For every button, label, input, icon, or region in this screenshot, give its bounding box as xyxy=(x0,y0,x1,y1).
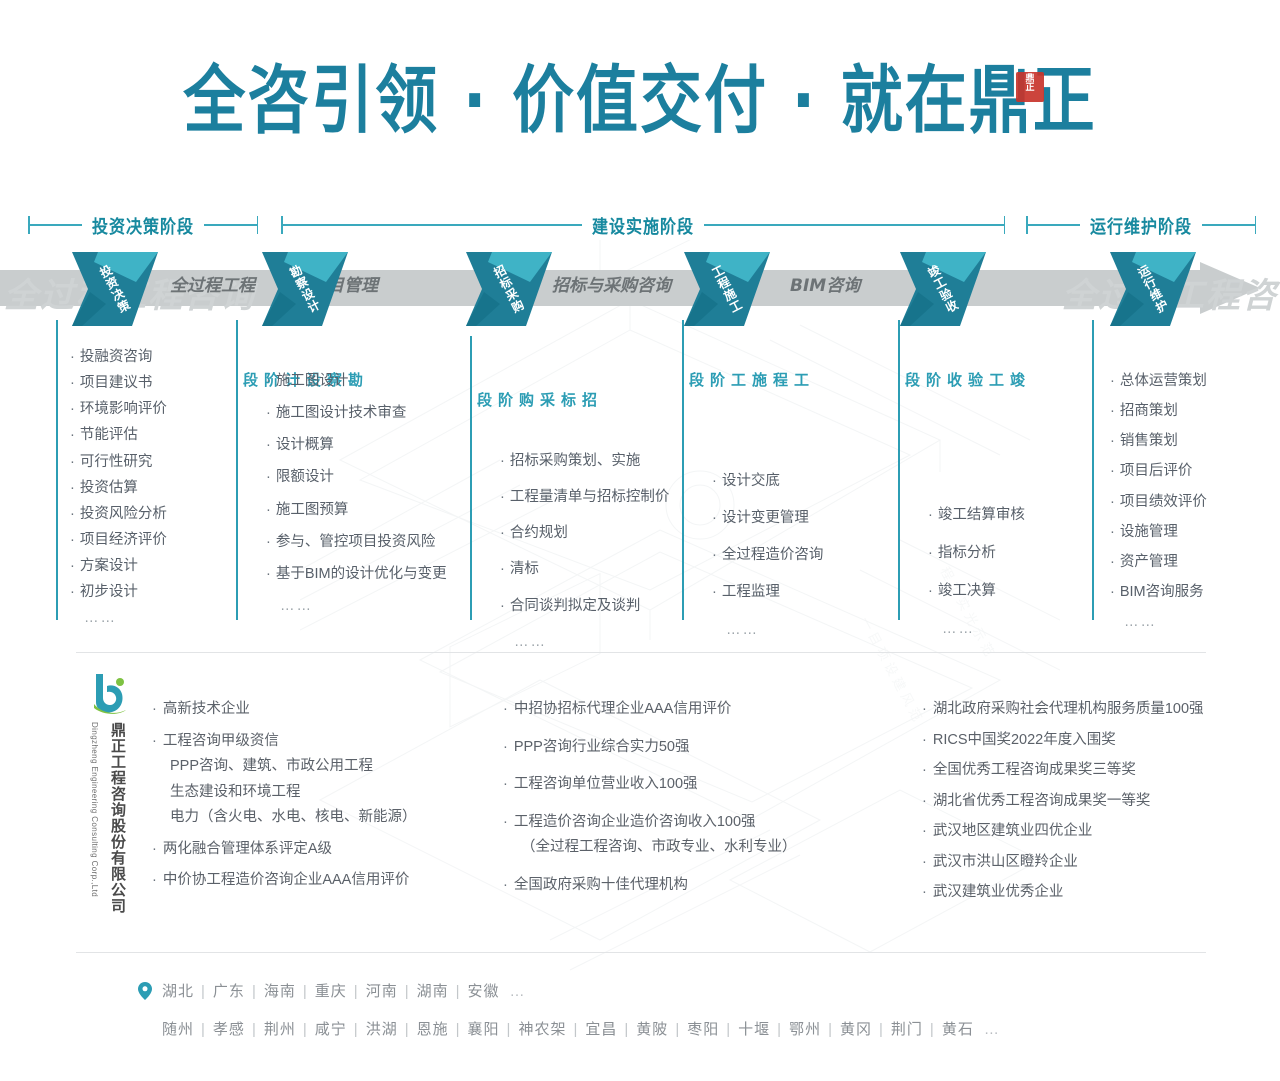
bullet-dot: · xyxy=(70,584,75,600)
list-item: ·工程咨询单位营业收入100强 xyxy=(503,775,913,795)
location-separator: | xyxy=(303,983,308,1000)
list-item-text: 两化融合管理体系评定A级 xyxy=(163,841,332,857)
phase-line-left xyxy=(1028,224,1081,226)
locations-cities-row: 随州|孝感|荆州|咸宁|洪湖|恩施|襄阳|神农架|宜昌|黄陂|枣阳|十堰|鄂州|… xyxy=(162,1018,1000,1039)
bullet-dot: · xyxy=(1110,463,1115,479)
bullet-dot: · xyxy=(266,534,271,550)
list-item-text: 初步设计 xyxy=(80,584,138,600)
seal-bottom-char: 正 xyxy=(1018,84,1042,93)
list-item: ·武汉建筑业优秀企业 xyxy=(922,883,1252,903)
stage-vertical-title: 招标采购阶段 xyxy=(474,392,600,410)
list-item: ·设计变更管理 xyxy=(712,509,823,527)
bullet-dot: · xyxy=(70,454,75,470)
bullet-dot: · xyxy=(152,872,157,888)
list-item: ·项目经济评价 xyxy=(70,531,167,549)
bullet-dot: · xyxy=(266,566,271,582)
list-item-text: 全国优秀工程咨询成果奖三等奖 xyxy=(933,762,1136,778)
list-item: ·合约规划 xyxy=(500,524,669,542)
list-item: ·设施管理 xyxy=(1110,523,1207,541)
location-name: 咸宁 xyxy=(315,1021,347,1038)
list-item: ·投资估算 xyxy=(70,479,167,497)
list-item: ·总体运营策划 xyxy=(1110,372,1207,390)
list-item-text: 招标采购策划、实施 xyxy=(510,453,641,469)
bullet-dot: · xyxy=(70,427,75,443)
list-item-text: 工程量清单与招标控制价 xyxy=(510,489,670,505)
list-item-text: 可行性研究 xyxy=(80,454,153,470)
location-more: … xyxy=(510,983,526,1000)
phase-header-label: 建设实施阶段 xyxy=(582,212,704,239)
bullet-dot: · xyxy=(928,545,933,561)
list-item: ·初步设计 xyxy=(70,583,167,601)
stage-item-list: ·招标采购策划、实施 ·工程量清单与招标控制价 ·合约规划 ·清标 ·合同谈判拟… xyxy=(500,452,669,659)
list-ellipsis: …… xyxy=(1110,613,1207,631)
bullet-dot: · xyxy=(266,469,271,485)
list-item: ·工程咨询甲级资信 PPP咨询、建筑、市政公用工程 生态建设和环境工程 电力（含… xyxy=(152,732,482,828)
phase-header-investment-decision: 投资决策阶段 xyxy=(28,212,258,238)
list-item-text: PPP咨询行业综合实力50强 xyxy=(514,739,690,755)
location-name: 襄阳 xyxy=(468,1021,500,1038)
location-separator: | xyxy=(456,983,461,1000)
phase-line-left xyxy=(30,224,83,226)
location-separator: | xyxy=(303,1021,308,1038)
list-item-text: 高新技术企业 xyxy=(163,701,250,717)
location-separator: | xyxy=(456,1021,461,1038)
bullet-dot: · xyxy=(503,701,508,717)
bullet-dot: · xyxy=(922,854,927,870)
list-item-text: 销售策划 xyxy=(1120,433,1178,449)
phase-bracket-right xyxy=(1004,216,1006,234)
list-item-text: 湖北省优秀工程咨询成果奖一等奖 xyxy=(933,793,1151,809)
bullet-dot: · xyxy=(712,473,717,489)
list-item: ·PPP咨询行业综合实力50强 xyxy=(503,738,913,758)
list-item-text: 设计交底 xyxy=(722,473,780,489)
location-more: … xyxy=(984,1021,1000,1038)
location-name: 恩施 xyxy=(417,1021,449,1038)
list-item-text: 投资风险分析 xyxy=(80,506,167,522)
page-title: 全咨引领 · 价值交付 · 就在鼎正 xyxy=(0,62,1280,127)
bullet-dot: · xyxy=(503,814,508,830)
stage-item-list: ·施工图设计 ·施工图设计技术审查 ·设计概算 ·限额设计 ·施工图预算 ·参与… xyxy=(266,372,447,623)
phase-line-right xyxy=(204,224,257,226)
list-item: ·设计交底 xyxy=(712,472,823,490)
list-item-text: 武汉地区建筑业四优企业 xyxy=(933,823,1093,839)
list-item-text: 工程咨询甲级资信 xyxy=(163,733,279,749)
location-separator: | xyxy=(252,1021,257,1038)
list-item: ·工程监理 xyxy=(712,583,823,601)
ribbon-operation-maintenance: 运行维护 xyxy=(1110,252,1196,326)
location-name: 湖南 xyxy=(417,983,449,1000)
ribbon-construction: 工程施工 xyxy=(684,252,770,326)
location-name: 洪湖 xyxy=(366,1021,398,1038)
list-item-text: 投资估算 xyxy=(80,480,138,496)
arrow-segment-whole-process: 全过程工程 xyxy=(170,271,255,296)
list-item: ·BIM咨询服务 xyxy=(1110,583,1207,601)
location-separator: | xyxy=(726,1021,731,1038)
list-item: ·湖北政府采购社会代理机构服务质量100强 xyxy=(922,700,1252,720)
bullet-dot: · xyxy=(712,547,717,563)
list-item-text: 施工图设计 xyxy=(276,373,349,389)
location-separator: | xyxy=(879,1021,884,1038)
location-name: 重庆 xyxy=(315,983,347,1000)
bullet-dot: · xyxy=(1110,584,1115,600)
credentials-column-1: ·高新技术企业 ·工程咨询甲级资信 PPP咨询、建筑、市政公用工程 生态建设和环… xyxy=(152,700,482,903)
list-item-text: 湖北政府采购社会代理机构服务质量100强 xyxy=(933,701,1204,717)
bullet-dot: · xyxy=(922,762,927,778)
list-item: ·项目后评价 xyxy=(1110,462,1207,480)
location-name: 宜昌 xyxy=(585,1021,617,1038)
locations-provinces-row: 湖北|广东|海南|重庆|河南|湖南|安徽… xyxy=(162,980,526,1001)
bullet-dot: · xyxy=(1110,373,1115,389)
company-logo-block: 鼎正工程咨询股份有限公司 Dingzheng Engineering Consu… xyxy=(82,672,146,922)
list-item-text: 工程监理 xyxy=(722,584,780,600)
location-name: 湖北 xyxy=(162,983,194,1000)
stage-vertical-title: 工程施工阶段 xyxy=(686,372,812,390)
list-item: ·销售策划 xyxy=(1110,432,1207,450)
list-item: ·资产管理 xyxy=(1110,553,1207,571)
bullet-dot: · xyxy=(922,793,927,809)
list-item-text: 方案设计 xyxy=(80,558,138,574)
location-name: 海南 xyxy=(264,983,296,1000)
list-item: ·招商策划 xyxy=(1110,402,1207,420)
list-item-text: 设施管理 xyxy=(1120,524,1178,540)
location-name: 荆州 xyxy=(264,1021,296,1038)
list-item: ·指标分析 xyxy=(928,544,1025,562)
bullet-dot: · xyxy=(712,510,717,526)
list-item-text: 全过程造价咨询 xyxy=(722,547,824,563)
bullet-dot: · xyxy=(500,525,505,541)
list-ellipsis: …… xyxy=(70,609,167,627)
stage-item-list: ·设计交底 ·设计变更管理 ·全过程造价咨询 ·工程监理 …… xyxy=(712,472,823,647)
stage-item-list: ·投融资咨询 ·项目建议书 ·环境影响评价 ·节能评估 ·可行性研究 ·投资估算… xyxy=(70,348,167,635)
location-separator: | xyxy=(777,1021,782,1038)
list-item-text: 项目经济评价 xyxy=(80,532,167,548)
credentials-column-2: ·中招协招标代理企业AAA信用评价 ·PPP咨询行业综合实力50强 ·工程咨询单… xyxy=(503,700,913,907)
list-item-subtext: PPP咨询、建筑、市政公用工程 xyxy=(152,757,482,777)
location-name: 神农架 xyxy=(518,1021,566,1038)
bullet-dot: · xyxy=(1110,524,1115,540)
list-item: ·施工图设计 xyxy=(266,372,447,390)
list-item-text: 参与、管控项目投资风险 xyxy=(276,534,436,550)
list-item: ·参与、管控项目投资风险 xyxy=(266,533,447,551)
arrow-segment-bim: BIM咨询 xyxy=(790,271,860,296)
location-name: 十堰 xyxy=(738,1021,770,1038)
location-separator: | xyxy=(252,983,257,1000)
list-item: ·投融资咨询 xyxy=(70,348,167,366)
ribbon-bidding-procurement: 招标采购 xyxy=(466,252,552,326)
list-item: ·环境影响评价 xyxy=(70,400,167,418)
phase-line-right xyxy=(1202,224,1255,226)
list-item: ·节能评估 xyxy=(70,426,167,444)
bullet-dot: · xyxy=(266,373,271,389)
list-item: ·高新技术企业 xyxy=(152,700,482,720)
bullet-dot: · xyxy=(70,558,75,574)
list-item-text: 投融资咨询 xyxy=(80,349,153,365)
list-item-text: 全国政府采购十佳代理机构 xyxy=(514,877,688,893)
list-item-text: 武汉建筑业优秀企业 xyxy=(933,884,1064,900)
phase-line-left xyxy=(283,224,583,226)
bullet-dot: · xyxy=(503,776,508,792)
list-item: ·项目绩效评价 xyxy=(1110,493,1207,511)
company-seal-stamp: 鼎 正 xyxy=(1016,72,1044,102)
bullet-dot: · xyxy=(152,841,157,857)
location-separator: | xyxy=(624,1021,629,1038)
location-separator: | xyxy=(354,1021,359,1038)
bullet-dot: · xyxy=(928,583,933,599)
list-item: ·设计概算 xyxy=(266,436,447,454)
stage-vertical-rule xyxy=(682,320,684,620)
location-name: 黄冈 xyxy=(840,1021,872,1038)
location-pin-icon xyxy=(138,982,152,1000)
list-item-subtext: 生态建设和环境工程 xyxy=(152,783,482,803)
list-item: ·限额设计 xyxy=(266,468,447,486)
arrow-segment-bidding-procurement: 招标与采购咨询 xyxy=(552,271,671,296)
bullet-dot: · xyxy=(928,507,933,523)
stage-vertical-rule xyxy=(898,320,900,620)
bullet-dot: · xyxy=(1110,494,1115,510)
list-item-text: 项目后评价 xyxy=(1120,463,1193,479)
location-name: 河南 xyxy=(366,983,398,1000)
phase-bracket-right xyxy=(257,216,259,234)
list-item: ·两化融合管理体系评定A级 xyxy=(152,840,482,860)
bullet-dot: · xyxy=(70,506,75,522)
list-item-text: RICS中国奖2022年度入围奖 xyxy=(933,732,1116,748)
bullet-dot: · xyxy=(70,480,75,496)
list-item: ·工程量清单与招标控制价 xyxy=(500,488,669,506)
bullet-dot: · xyxy=(1110,433,1115,449)
bullet-dot: · xyxy=(503,877,508,893)
location-name: 黄陂 xyxy=(636,1021,668,1038)
list-item-text: 基于BIM的设计优化与变更 xyxy=(276,566,447,582)
location-separator: | xyxy=(930,1021,935,1038)
stage-vertical-rule xyxy=(470,336,472,620)
list-item-text: 环境影响评价 xyxy=(80,401,167,417)
list-item-text: 中价协工程造价咨询企业AAA信用评价 xyxy=(163,872,410,888)
list-item: ·竣工结算审核 xyxy=(928,506,1025,524)
list-item-subtext: （全过程工程咨询、市政专业、水利专业） xyxy=(503,838,913,858)
ribbon-investment-decision: 投资决策 xyxy=(72,252,158,326)
bullet-dot: · xyxy=(70,349,75,365)
list-item-text: 招商策划 xyxy=(1120,403,1178,419)
list-item-text: BIM咨询服务 xyxy=(1120,584,1204,600)
stage-item-list: ·总体运营策划 ·招商策划 ·销售策划 ·项目后评价 ·项目绩效评价 ·设施管理… xyxy=(1110,372,1207,639)
list-ellipsis: …… xyxy=(500,633,669,651)
list-item: ·RICS中国奖2022年度入围奖 xyxy=(922,731,1252,751)
bullet-dot: · xyxy=(922,823,927,839)
list-item-text: 合同谈判拟定及谈判 xyxy=(510,598,641,614)
bullet-dot: · xyxy=(712,584,717,600)
list-item: ·可行性研究 xyxy=(70,453,167,471)
section-divider-bottom xyxy=(76,952,1206,953)
list-item: ·中招协招标代理企业AAA信用评价 xyxy=(503,700,913,720)
bullet-dot: · xyxy=(500,561,505,577)
list-item-text: 设计变更管理 xyxy=(722,510,809,526)
location-separator: | xyxy=(354,983,359,1000)
list-item: ·清标 xyxy=(500,560,669,578)
stage-vertical-rule xyxy=(56,320,58,620)
list-item: ·竣工决算 xyxy=(928,582,1025,600)
list-item-text: 项目建议书 xyxy=(80,375,153,391)
stage-vertical-rule xyxy=(236,320,238,620)
list-item-text: 合约规划 xyxy=(510,525,568,541)
company-name-en: Dingzheng Engineering Consulting Corp.,L… xyxy=(90,722,99,897)
location-separator: | xyxy=(675,1021,680,1038)
list-item: ·中价协工程造价咨询企业AAA信用评价 xyxy=(152,871,482,891)
list-item: ·武汉地区建筑业四优企业 xyxy=(922,822,1252,842)
location-name: 安徽 xyxy=(468,983,500,1000)
list-item-text: 竣工决算 xyxy=(938,583,996,599)
list-ellipsis: …… xyxy=(928,620,1025,638)
bullet-dot: · xyxy=(500,489,505,505)
location-separator: | xyxy=(573,1021,578,1038)
location-name: 广东 xyxy=(213,983,245,1000)
list-item: ·施工图设计技术审查 xyxy=(266,404,447,422)
list-item-text: 中招协招标代理企业AAA信用评价 xyxy=(514,701,732,717)
location-separator: | xyxy=(201,1021,206,1038)
bullet-dot: · xyxy=(70,375,75,391)
list-item-text: 清标 xyxy=(510,561,539,577)
location-separator: | xyxy=(828,1021,833,1038)
bullet-dot: · xyxy=(1110,403,1115,419)
list-ellipsis: …… xyxy=(712,621,823,639)
list-item: ·全国政府采购十佳代理机构 xyxy=(503,876,913,896)
bullet-dot: · xyxy=(70,532,75,548)
list-item: ·湖北省优秀工程咨询成果奖一等奖 xyxy=(922,792,1252,812)
list-item-text: 设计概算 xyxy=(276,437,334,453)
list-item: ·基于BIM的设计优化与变更 xyxy=(266,565,447,583)
location-name: 荆门 xyxy=(891,1021,923,1038)
bullet-dot: · xyxy=(922,732,927,748)
phase-header-construction: 建设实施阶段 xyxy=(281,212,1005,238)
location-name: 黄石 xyxy=(942,1021,974,1038)
list-item-text: 施工图预算 xyxy=(276,502,349,518)
bullet-dot: · xyxy=(922,884,927,900)
list-item: ·项目建议书 xyxy=(70,374,167,392)
list-item: ·施工图预算 xyxy=(266,501,447,519)
company-name-cn: 鼎正工程咨询股份有限公司 xyxy=(108,722,129,914)
list-item-text: 项目绩效评价 xyxy=(1120,494,1207,510)
stage-vertical-title: 竣工验收阶段 xyxy=(902,372,1028,390)
location-name: 枣阳 xyxy=(687,1021,719,1038)
page-title-text: 全咨引领 · 价值交付 · 就在鼎正 xyxy=(183,62,1096,139)
bullet-dot: · xyxy=(152,701,157,717)
ribbon-survey-design: 勘察设计 xyxy=(262,252,348,326)
process-arrow-bar: 全过程工程咨询 全过程工程咨询 全过程工程 项目管理 招标与采购咨询 BIM咨询 xyxy=(0,262,1280,314)
ribbon-completion-acceptance: 竣工验收 xyxy=(900,252,986,326)
list-item: ·全过程造价咨询 xyxy=(712,546,823,564)
credentials-column-3: ·湖北政府采购社会代理机构服务质量100强 ·RICS中国奖2022年度入围奖 … xyxy=(922,700,1252,915)
section-divider-top xyxy=(76,652,1206,653)
list-item: ·全国优秀工程咨询成果奖三等奖 xyxy=(922,761,1252,781)
bullet-dot: · xyxy=(1110,554,1115,570)
location-separator: | xyxy=(405,983,410,1000)
location-name: 鄂州 xyxy=(789,1021,821,1038)
bullet-dot: · xyxy=(922,701,927,717)
bullet-dot: · xyxy=(70,401,75,417)
bullet-dot: · xyxy=(266,437,271,453)
phase-header-label: 投资决策阶段 xyxy=(82,212,204,239)
list-item-text: 武汉市洪山区瞪羚企业 xyxy=(933,854,1078,870)
list-item: ·工程造价咨询企业造价咨询收入100强 （全过程工程咨询、市政专业、水利专业） xyxy=(503,813,913,858)
location-name: 孝感 xyxy=(213,1021,245,1038)
location-separator: | xyxy=(405,1021,410,1038)
phase-header-operation-maintenance: 运行维护阶段 xyxy=(1026,212,1256,238)
phase-line-right xyxy=(704,224,1004,226)
list-item: ·合同谈判拟定及谈判 xyxy=(500,597,669,615)
list-item-text: 指标分析 xyxy=(938,545,996,561)
list-item: ·方案设计 xyxy=(70,557,167,575)
list-item-text: 工程咨询单位营业收入100强 xyxy=(514,776,698,792)
bullet-dot: · xyxy=(500,453,505,469)
company-logo-icon xyxy=(90,672,130,716)
list-item-text: 工程造价咨询企业造价咨询收入100强 xyxy=(514,814,756,830)
location-separator: | xyxy=(507,1021,512,1038)
list-item-text: 竣工结算审核 xyxy=(938,507,1025,523)
bullet-dot: · xyxy=(500,598,505,614)
list-item-text: 限额设计 xyxy=(276,469,334,485)
list-item-subtext: 电力（含火电、水电、核电、新能源） xyxy=(152,808,482,828)
bullet-dot: · xyxy=(152,733,157,749)
list-ellipsis: …… xyxy=(266,597,447,615)
location-separator: | xyxy=(201,983,206,1000)
list-item: ·武汉市洪山区瞪羚企业 xyxy=(922,853,1252,873)
phase-bracket-right xyxy=(1255,216,1257,234)
stage-vertical-rule xyxy=(1092,320,1094,620)
list-item-text: 资产管理 xyxy=(1120,554,1178,570)
bullet-dot: · xyxy=(266,502,271,518)
list-item: ·招标采购策划、实施 xyxy=(500,452,669,470)
list-item-text: 节能评估 xyxy=(80,427,138,443)
bullet-dot: · xyxy=(503,739,508,755)
list-item: ·投资风险分析 xyxy=(70,505,167,523)
stage-item-list: ·竣工结算审核 ·指标分析 ·竣工决算 …… xyxy=(928,506,1025,647)
list-item-text: 施工图设计技术审查 xyxy=(276,405,407,421)
location-name: 随州 xyxy=(162,1021,194,1038)
bullet-dot: · xyxy=(266,405,271,421)
list-item-text: 总体运营策划 xyxy=(1120,373,1207,389)
phase-header-label: 运行维护阶段 xyxy=(1080,212,1202,239)
